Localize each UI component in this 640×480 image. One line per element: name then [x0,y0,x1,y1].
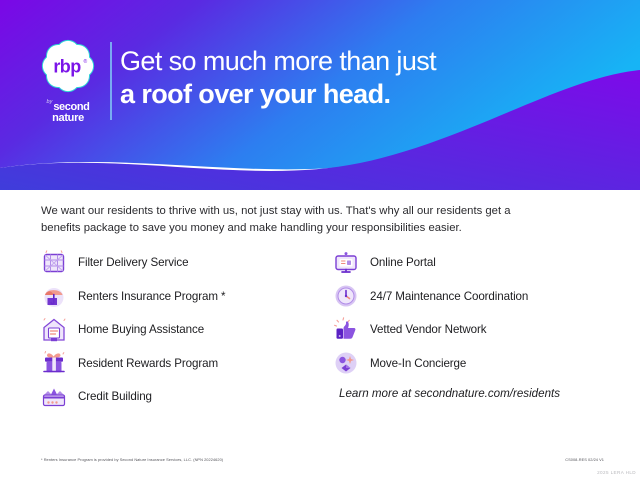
benefit-label: Move-In Concierge [370,357,466,370]
hero-headline: Get so much more than just a roof over y… [120,44,600,111]
benefit-online-portal: Online Portal [333,246,633,280]
benefit-move-in-concierge: Move-In Concierge [333,347,633,381]
benefit-renters-insurance-program: Renters Insurance Program * [41,280,331,314]
benefit-label: 24/7 Maintenance Coordination [370,290,528,303]
footnote-disclaimer: * Renters Insurance Program is provided … [41,457,223,462]
benefit-label: Filter Delivery Service [78,256,188,269]
benefit-label: Credit Building [78,390,152,403]
logo-tagline-by: by [47,100,53,106]
intro-line-2: benefits package to save you money and m… [41,220,601,237]
clock-icon [333,283,359,309]
rbp-logo-mark: rbp ® [38,36,98,96]
benefits-column-right: Online Portal 24/7 Maintenance Coordinat… [333,246,633,400]
hero-banner: rbp ® bysecond nature Get so much more t… [0,0,640,190]
benefits-column-left: Filter Delivery Service Renters Insuranc… [41,246,331,414]
benefit-label: Vetted Vendor Network [370,323,487,336]
rbp-logo-tagline: bysecond nature [32,98,104,124]
sparkle-diamond-icon [333,350,359,376]
document-code: CS008-RES 02/24 V1 [565,457,604,462]
header-divider [110,42,112,120]
benefit-filter-delivery-service: Filter Delivery Service [41,246,331,280]
monitor-portal-icon [333,250,359,276]
rbp-logo: rbp ® bysecond nature [32,36,104,120]
learn-more-link[interactable]: Learn more at secondnature.com/residents [339,387,633,400]
benefit-label: Renters Insurance Program * [78,290,225,303]
benefit-label: Resident Rewards Program [78,357,218,370]
benefit-home-buying-assistance: Home Buying Assistance [41,313,331,347]
intro-line-1: We want our residents to thrive with us,… [41,203,601,220]
logo-tagline-word2: nature [32,113,104,124]
benefit-label: Home Buying Assistance [78,323,204,336]
air-filter-icon [41,250,67,276]
svg-text:rbp: rbp [53,57,81,77]
credit-card-star-icon [41,384,67,410]
benefit-vetted-vendor-network: Vetted Vendor Network [333,313,633,347]
umbrella-icon [41,283,67,309]
benefit-credit-building: Credit Building [41,380,331,414]
gift-icon [41,350,67,376]
benefit-resident-rewards-program: Resident Rewards Program [41,347,331,381]
svg-text:®: ® [84,58,88,65]
benefit-label: Online Portal [370,256,436,269]
house-checklist-icon [41,317,67,343]
headline-line-2: a roof over your head. [120,78,600,111]
intro-paragraph: We want our residents to thrive with us,… [41,203,601,237]
watermark-text: 2025 LERA HLD [597,470,636,475]
thumbs-up-icon [333,317,359,343]
benefit-maintenance-coordination: 24/7 Maintenance Coordination [333,280,633,314]
headline-line-1: Get so much more than just [120,44,600,78]
